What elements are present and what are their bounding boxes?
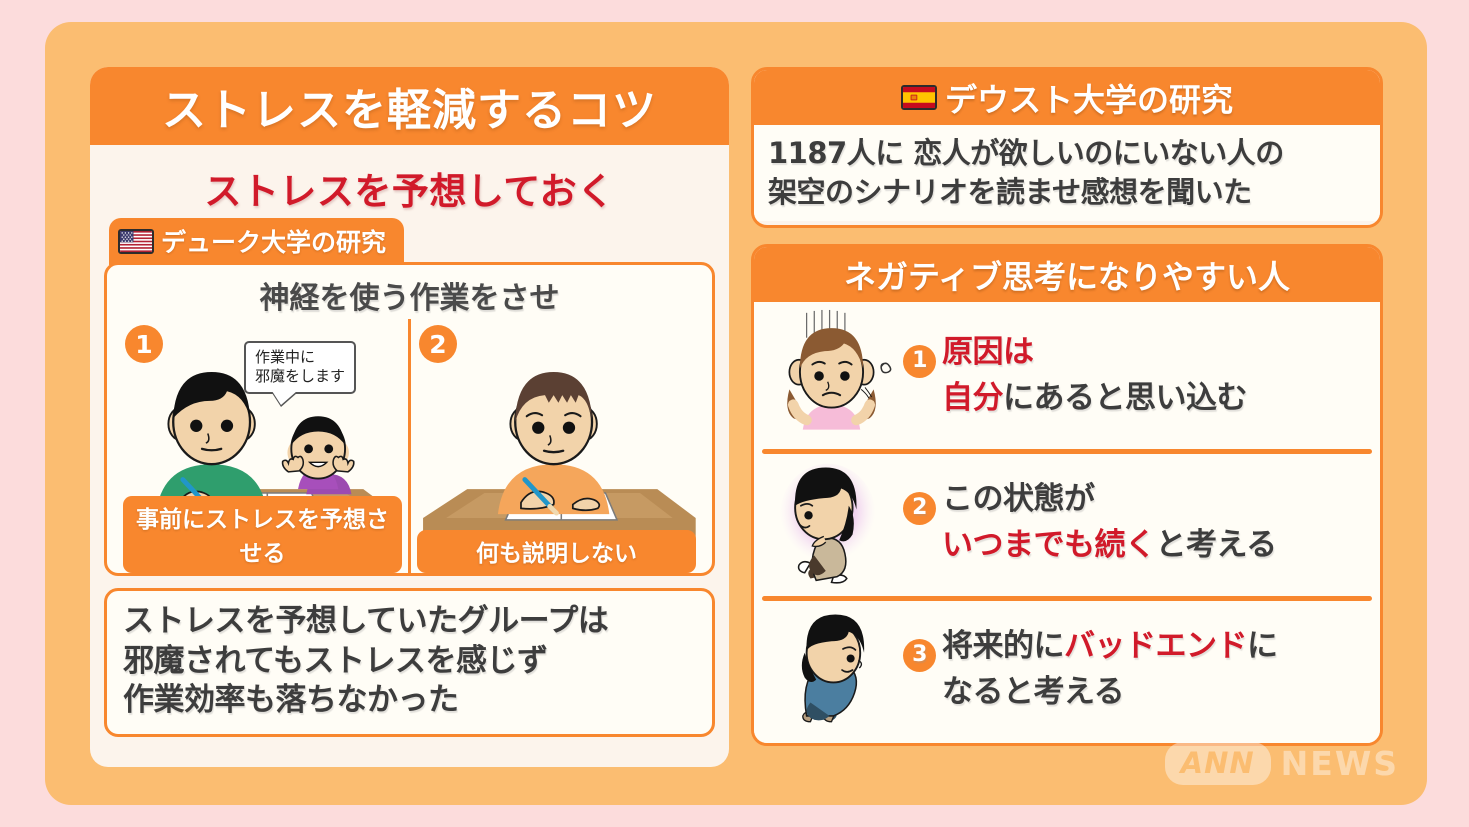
deusto-study-header: デウスト大学の研究 [754, 70, 1380, 125]
list-item-text: 1原因は 自分にあると思い込む [899, 332, 1370, 418]
experiment-columns: 1 作業中に 邪魔をします [117, 319, 702, 575]
list-number-badge-2: 2 [903, 492, 936, 525]
list-item-line-1: 3将来的にバッドエンドに [903, 626, 1370, 672]
list-item: 1原因は 自分にあると思い込む [754, 302, 1380, 449]
list-item-3-connector: に [1247, 628, 1278, 664]
conclusion-line-2: 邪魔されてもストレスを感じず [123, 642, 696, 682]
negative-thinking-card: ネガティブ思考になりやすい人 [751, 244, 1383, 746]
experiment-column-1-label: 事前にストレスを予想させる [123, 496, 402, 573]
negative-thinking-list: 1原因は 自分にあると思い込む [754, 302, 1380, 746]
list-number-badge-1: 1 [903, 345, 936, 378]
us-flag-icon [118, 229, 154, 254]
page-title: ストレスを軽減するコツ [162, 74, 657, 138]
list-item-line-2: なると考える [903, 672, 1370, 712]
list-item-1-highlight-2: 自分 [942, 380, 1003, 416]
left-panel-subtitle: ストレスを予想しておく [90, 161, 729, 215]
conclusion-line-1: ストレスを予想していたグループは [123, 602, 696, 642]
list-item: 3将来的にバッドエンドに なると考える [754, 596, 1380, 743]
list-item-3-tail: なると考える [942, 674, 1124, 710]
duke-study-tab: デューク大学の研究 [109, 218, 404, 265]
deusto-study-line-2: 架空のシナリオを読ませ感想を聞いた [768, 173, 1366, 212]
step-badge-2: 2 [419, 325, 457, 363]
step-badge-1: 1 [125, 325, 163, 363]
deusto-study-header-label: デウスト大学の研究 [945, 75, 1233, 121]
kneeling-sad-man-illustration [764, 603, 899, 737]
deusto-study-card: デウスト大学の研究 1187人に 恋人が欲しいのにいない人の 架空のシナリオを読… [751, 67, 1383, 228]
negative-thinking-header: ネガティブ思考になりやすい人 [754, 247, 1380, 302]
experiment-column-2: 2 [411, 319, 702, 575]
conclusion-box: ストレスを予想していたグループは 邪魔されてもストレスを感じず 作業効率も落ちな… [104, 588, 715, 737]
list-item-2-tail: と考える [1156, 527, 1277, 563]
right-panel: デウスト大学の研究 1187人に 恋人が欲しいのにいない人の 架空のシナリオを読… [751, 67, 1383, 767]
list-item-1-tail: にあると思い込む [1003, 380, 1247, 416]
conclusion-line-3: 作業効率も落ちなかった [123, 681, 696, 721]
deusto-study-line-1: 1187人に 恋人が欲しいのにいない人の [768, 134, 1366, 173]
experiment-box: 神経を使う作業をさせ 1 作業中に 邪魔をします [104, 262, 715, 576]
list-item-line-1: 2この状態が [903, 479, 1370, 525]
outer-card: ストレスを軽減するコツ ストレスを予想しておく [45, 22, 1427, 805]
experiment-column-1: 1 作業中に 邪魔をします [117, 319, 411, 575]
deusto-study-body: 1187人に 恋人が欲しいのにいない人の 架空のシナリオを読ませ感想を聞いた [754, 125, 1380, 221]
spain-flag-icon [901, 85, 937, 110]
list-item-3-highlight: バッドエンド [1064, 628, 1247, 664]
experiment-title: 神経を使う作業をさせ [117, 273, 702, 317]
left-panel: ストレスを軽減するコツ ストレスを予想しておく [90, 67, 729, 767]
list-item-3-plain: 将来的に [942, 628, 1064, 664]
list-item-1-highlight-1: 原因は [942, 334, 1034, 370]
list-number-badge-3: 3 [903, 639, 936, 672]
list-item-line-2: いつまでも続くと考える [903, 525, 1370, 565]
list-item-text: 2この状態が いつまでも続くと考える [899, 479, 1370, 565]
walking-sad-woman-illustration [764, 456, 899, 590]
list-item-line-2: 自分にあると思い込む [903, 378, 1370, 418]
duke-study-tab-label: デューク大学の研究 [161, 223, 386, 259]
interruption-speech-bubble: 作業中に 邪魔をします [244, 341, 356, 394]
experiment-column-2-label: 何も説明しない [417, 530, 696, 573]
list-item-2-highlight: いつまでも続く [942, 527, 1156, 563]
negative-thinking-header-label: ネガティブ思考になりやすい人 [844, 252, 1290, 298]
worried-woman-illustration [764, 309, 899, 443]
list-item-2-plain: この状態が [942, 481, 1095, 517]
list-item-text: 3将来的にバッドエンドに なると考える [899, 626, 1370, 712]
student-studying-illustration [411, 349, 702, 541]
left-panel-header: ストレスを軽減するコツ [90, 67, 729, 145]
list-item-line-1: 1原因は [903, 332, 1370, 378]
list-item: 2この状態が いつまでも続くと考える [754, 449, 1380, 596]
